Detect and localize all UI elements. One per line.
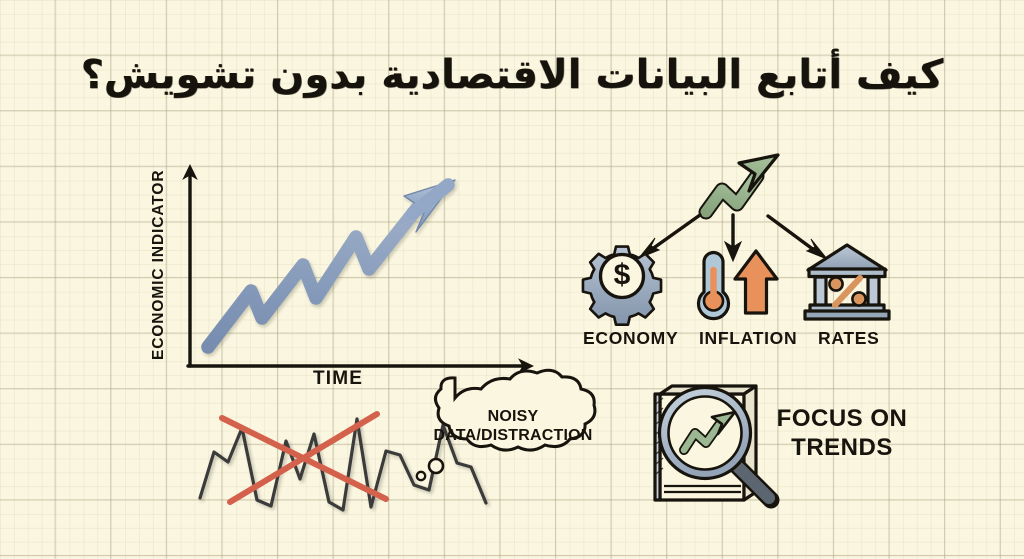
economic-trend-arrow	[208, 180, 455, 347]
focus-on-trends-text: FOCUS ON TRENDS	[752, 404, 932, 463]
focus-line-1: FOCUS ON	[752, 404, 932, 433]
gear-dollar-icon: $	[583, 247, 661, 325]
thought-bubble-line-2: DATA/DISTRACTION	[424, 427, 602, 446]
connector-arrows	[639, 215, 827, 261]
chart-y-axis-label: ECONOMIC INDICATOR	[150, 170, 168, 360]
thought-bubble-line-1: NOISY	[424, 408, 602, 427]
upward-trend-arrow-green	[706, 155, 778, 212]
thought-bubble-text: NOISY DATA/DISTRACTION	[424, 408, 602, 446]
thermometer-arrow-icon	[698, 251, 777, 319]
infographic-canvas: كيف أتابع البيانات الاقتصادية بدون تشويش…	[0, 0, 1024, 559]
node-label-economy: ECONOMY	[583, 328, 678, 349]
chart-x-axis-label: TIME	[313, 368, 363, 390]
node-label-inflation: INFLATION	[699, 328, 797, 349]
node-label-rates: RATES	[818, 328, 880, 349]
bank-percent-icon	[805, 245, 889, 319]
cross-out-mark	[222, 414, 386, 502]
focus-line-2: TRENDS	[752, 433, 932, 462]
page-title: كيف أتابع البيانات الاقتصادية بدون تشويش…	[0, 52, 1024, 98]
svg-text:$: $	[614, 259, 631, 292]
chart-axes	[182, 164, 534, 374]
